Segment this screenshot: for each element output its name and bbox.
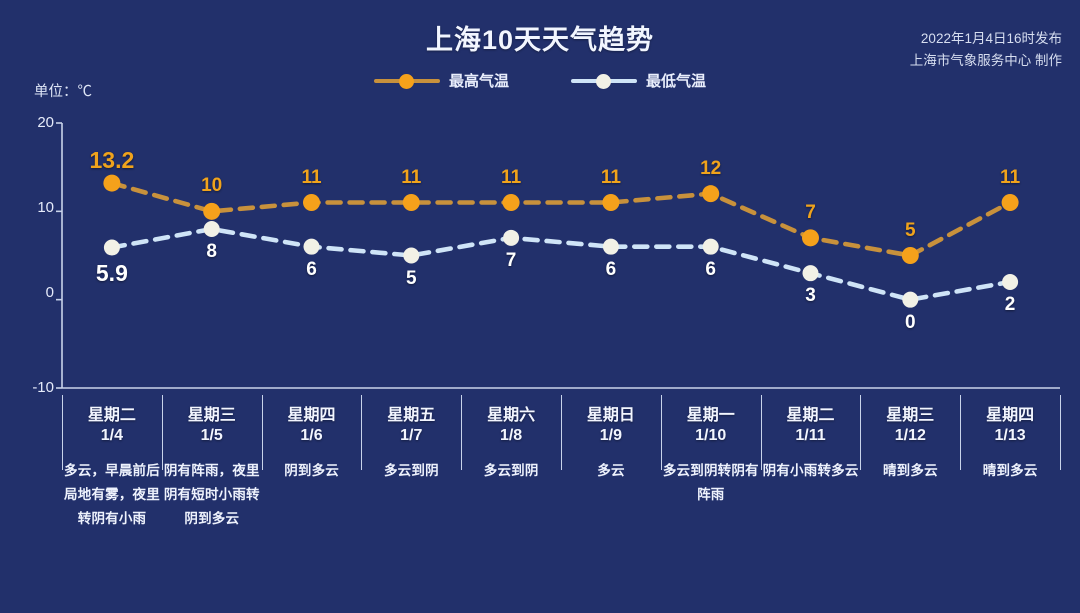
day-column[interactable]: 星期四1/13晴到多云	[960, 389, 1060, 613]
high-temp-label-1-9: 11	[561, 167, 661, 189]
weather-description: 多云	[563, 459, 659, 483]
weather-description: 晴到多云	[862, 459, 958, 483]
day-column[interactable]: 星期六1/8多云到阴	[461, 389, 561, 613]
weekday-label: 星期五	[361, 401, 461, 425]
low-temp-label-1-6: 6	[262, 259, 362, 281]
date-label: 1/6	[262, 427, 362, 445]
weekday-label: 星期一	[661, 401, 761, 425]
weather-description: 阴到多云	[264, 459, 360, 483]
low-temp-label-1-12: 0	[860, 312, 960, 334]
low-temp-label-1-5: 8	[162, 241, 262, 263]
column-divider-end	[1060, 389, 1080, 613]
weekday-label: 星期四	[960, 401, 1060, 425]
low-temp-label-1-10: 6	[661, 259, 761, 281]
weekday-label: 星期三	[860, 401, 960, 425]
weather-description: 多云，早晨前后局地有雾，夜里转阴有小雨	[64, 459, 160, 531]
date-label: 1/9	[561, 427, 661, 445]
high-temp-label-1-8: 11	[461, 167, 561, 189]
weekday-label: 星期四	[262, 401, 362, 425]
day-column[interactable]: 星期四1/6阴到多云	[262, 389, 362, 613]
high-temp-label-1-5: 10	[162, 175, 262, 197]
date-label: 1/12	[860, 427, 960, 445]
weather-trend-chart: 上海10天天气趋势 2022年1月4日16时发布 上海市气象服务中心 制作 单位…	[0, 0, 1080, 613]
day-column[interactable]: 星期二1/4多云，早晨前后局地有雾，夜里转阴有小雨	[62, 389, 162, 613]
weather-description: 阴有阵雨，夜里阴有短时小雨转阴到多云	[164, 459, 260, 531]
date-label: 1/8	[461, 427, 561, 445]
weekday-label: 星期二	[761, 401, 861, 425]
column-divider	[1060, 395, 1061, 470]
low-temp-label-1-9: 6	[561, 259, 661, 281]
weekday-label: 星期日	[561, 401, 661, 425]
low-temp-label-1-13: 2	[960, 294, 1060, 316]
day-column[interactable]: 星期三1/5阴有阵雨，夜里阴有短时小雨转阴到多云	[162, 389, 262, 613]
date-label: 1/7	[361, 427, 461, 445]
day-column[interactable]: 星期五1/7多云到阴	[361, 389, 461, 613]
weather-description: 阴有小雨转多云	[763, 459, 859, 483]
high-temp-label-1-11: 7	[761, 202, 861, 224]
weekday-label: 星期三	[162, 401, 262, 425]
weather-description: 多云到阴	[463, 459, 559, 483]
weekday-label: 星期二	[62, 401, 162, 425]
day-columns: 星期二1/4多云，早晨前后局地有雾，夜里转阴有小雨星期三1/5阴有阵雨，夜里阴有…	[62, 389, 1060, 613]
day-column[interactable]: 星期三1/12晴到多云	[860, 389, 960, 613]
high-temp-label-1-7: 11	[361, 167, 461, 189]
date-label: 1/5	[162, 427, 262, 445]
weather-description: 多云到阴	[363, 459, 459, 483]
low-temp-label-1-7: 5	[361, 268, 461, 290]
high-temp-label-1-10: 12	[661, 158, 761, 180]
date-label: 1/10	[661, 427, 761, 445]
day-column[interactable]: 星期二1/11阴有小雨转多云	[761, 389, 861, 613]
weather-description: 晴到多云	[962, 459, 1058, 483]
weather-description: 多云到阴转阴有阵雨	[663, 459, 759, 507]
weekday-label: 星期六	[461, 401, 561, 425]
low-temp-label-1-8: 7	[461, 250, 561, 272]
high-temp-label-1-4: 13.2	[62, 147, 162, 174]
low-temp-label-1-4: 5.9	[62, 260, 162, 287]
high-temp-label-1-13: 11	[960, 167, 1060, 189]
date-label: 1/13	[960, 427, 1060, 445]
high-temp-label-1-6: 11	[262, 167, 362, 189]
high-temp-label-1-12: 5	[860, 220, 960, 242]
day-column[interactable]: 星期日1/9多云	[561, 389, 661, 613]
date-label: 1/4	[62, 427, 162, 445]
date-label: 1/11	[761, 427, 861, 445]
day-column[interactable]: 星期一1/10多云到阴转阴有阵雨	[661, 389, 761, 613]
low-temp-label-1-11: 3	[761, 285, 861, 307]
